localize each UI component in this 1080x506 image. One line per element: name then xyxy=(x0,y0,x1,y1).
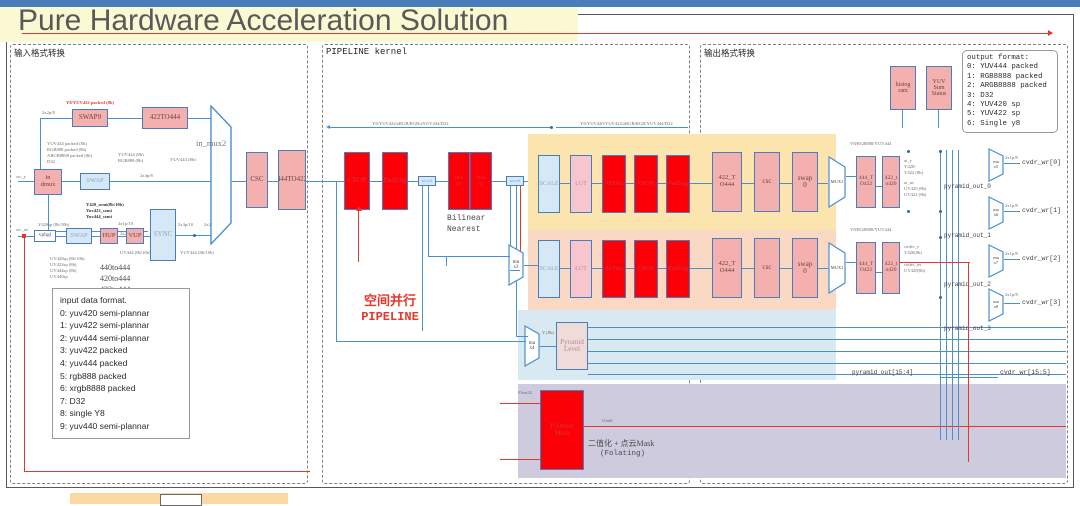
block-vphgl[interactable]: vphgl xyxy=(34,230,56,242)
block-422to444[interactable]: 422TO444 xyxy=(142,107,188,129)
rail-out-collect-2 xyxy=(946,150,947,440)
wire-red-input-feedback-v xyxy=(24,236,25,472)
block-out-444to422-b[interactable]: 444_T O422 xyxy=(856,242,876,294)
legend-input-item-3: 3: yuv422 packed xyxy=(60,344,182,357)
legend-input-header: input data format. xyxy=(60,294,182,307)
wire-swap-to-inmux2 xyxy=(110,181,214,182)
wire-padding-to-mux2 xyxy=(408,181,418,182)
block-out-csc-b[interactable]: csc xyxy=(754,238,780,298)
rail-mux3-feed xyxy=(428,256,510,257)
wire-crop-to-padding xyxy=(370,181,382,182)
block-csc-input[interactable]: CSC xyxy=(246,152,268,208)
label-pyramid-out-rest: pyramid_out[15:4] xyxy=(852,369,913,376)
arrow-red-crop-ctrl xyxy=(356,206,362,211)
mux-x7-label: mu x7 xyxy=(988,244,1004,278)
legend-output-header: output format: xyxy=(967,54,1053,63)
label-yuv444-rgb888: YUV444 (8b) RGB888 (8b) xyxy=(118,152,144,164)
block-resize-1[interactable]: resi ze xyxy=(470,152,492,210)
block-pointnet-mask[interactable]: Pointnet Mask xyxy=(540,390,584,470)
block-out-422to444-a[interactable]: 422_T O444 xyxy=(712,152,742,212)
block-out-422to420-b[interactable]: 422_t o420 xyxy=(882,242,900,294)
wire-dmux-to-swap xyxy=(62,181,80,182)
label-semi-group: Y420_semi(8b/10b) Yuv422_semi Yuv444_sem… xyxy=(86,202,124,220)
label-y-8b: Y (8b) xyxy=(542,330,554,336)
port-cvdr-wr-1: cvdr_wr[1] xyxy=(1022,207,1061,214)
block-hup[interactable]: HUP xyxy=(100,228,118,244)
legend-input-item-7: 7: D32 xyxy=(60,395,182,408)
legend-input-item-2: 2: yuv444 semi-plannar xyxy=(60,332,182,345)
block-scale-ai[interactable]: SCALE xyxy=(538,155,560,213)
rail-mux4-feed xyxy=(516,336,528,337)
label-uv444: UV444 (8b/10b) xyxy=(120,250,151,256)
mux-x4-label: mu x4 xyxy=(524,325,540,367)
label-packed-group: YUV444 packed (8b) RGB888 packed (8b) AR… xyxy=(47,141,92,165)
wire-outb-2 xyxy=(780,268,792,269)
block-crop-codec[interactable]: CROP xyxy=(634,240,658,298)
port-cvdr-wr-rest: cvdr_wr[15:5] xyxy=(1000,369,1051,376)
wire-outa-1 xyxy=(742,183,754,184)
junction-bus-mid xyxy=(550,126,553,129)
label-src-uv: src_uv xyxy=(16,227,28,233)
label-codec-uv: codec_uv UV420(8b) xyxy=(904,262,925,274)
legend-input-item-0: 0: yuv420 semi-plannar xyxy=(60,307,182,320)
junction-out-b1 xyxy=(939,236,942,239)
band-pointnet xyxy=(518,384,1066,478)
label-bus-in: Y8/YUV422/aRGB/RGB/aYUV444/D32 xyxy=(370,121,451,127)
mux-x7[interactable]: mu x7 xyxy=(988,244,1004,278)
wire-lut-affine-codec xyxy=(592,268,602,269)
label-2x1p8-c: 2x1p/8 xyxy=(1005,251,1018,257)
block-out-swap0-b[interactable]: swap 0 xyxy=(792,238,818,298)
rail-out-collect-4 xyxy=(958,150,959,440)
port-cvdr-wr-3: cvdr_wr[3] xyxy=(1022,299,1061,306)
wire-csc-to-444to422 xyxy=(268,181,278,182)
label-resize-mode: Bilinear Nearest xyxy=(447,213,485,235)
wire-histogram-down xyxy=(902,110,903,128)
wire-outa-2 xyxy=(780,183,792,184)
label-pyramid-out-0: pyramid_out_0 xyxy=(944,183,991,190)
legend-output-item-4: 4: YUV420 sp xyxy=(967,101,1053,110)
block-sync[interactable]: SYNC xyxy=(150,209,176,261)
label-pyramid-out-1: pyramid_out_1 xyxy=(944,232,991,239)
block-padding-codec[interactable]: Padding xyxy=(666,240,690,298)
label-yuv444-8b10b: YUV444 (8b/10b) xyxy=(180,250,214,256)
mux-in-mux2[interactable] xyxy=(210,105,232,245)
junction-out-c1 xyxy=(907,150,910,153)
legend-input-item-5: 5: rgb888 packed xyxy=(60,370,182,383)
mux-out-mux1-a[interactable]: MUX1 xyxy=(828,156,846,208)
wire-crop-padding-ai xyxy=(658,183,666,184)
mux-x5-label: mu x5 xyxy=(988,148,1004,182)
mux-x4[interactable]: mu x4 xyxy=(524,325,540,367)
wire-pyramid-out-2 xyxy=(588,351,1066,352)
wire-dmux-to-swap0-h xyxy=(40,118,72,119)
wire-lut-affine-ai xyxy=(592,183,602,184)
block-affine-codec[interactable]: AFFine xyxy=(602,240,626,298)
label-ai-y: ai_y Y420/ Y422 (8b) xyxy=(904,158,923,176)
mux-x3[interactable]: mu x3 xyxy=(508,244,524,286)
rail-pipeline-left-1 xyxy=(336,181,337,341)
block-lut-codec[interactable]: LUT xyxy=(570,240,592,298)
label-2x1p8-d: 2x1p/8 xyxy=(1005,292,1018,298)
block-scale-codec[interactable]: SCALE xyxy=(538,240,560,298)
block-padding-ai[interactable]: Padding xyxy=(666,155,690,213)
legend-input-item-4: 4: yuv444 packed xyxy=(60,357,182,370)
panel-output-label: 输出格式转换 xyxy=(704,47,755,59)
block-out-422to420-a[interactable]: 422_t o420 xyxy=(882,156,900,208)
port-cvdr-wr-2: cvdr_wr[2] xyxy=(1022,255,1061,262)
note-line-2: PIPELINE xyxy=(330,309,450,325)
block-out-444to422-a[interactable]: 444_T O422 xyxy=(856,156,876,208)
rail-mux3-stub xyxy=(446,256,447,266)
block-mux2[interactable]: mux2 xyxy=(418,176,436,186)
junction-out-a1 xyxy=(939,150,942,153)
block-histogram[interactable]: histog ram xyxy=(890,66,916,110)
block-swap0[interactable]: SWAP0 xyxy=(72,109,108,127)
legend-input-item-6: 6: xrgb8888 packed xyxy=(60,382,182,395)
note-spatial-parallel: 空间并行 PIPELINE xyxy=(330,293,450,325)
wire-pyramid-out-rest xyxy=(588,374,1066,375)
note-line-1: 空间并行 xyxy=(330,293,450,309)
label-2x1p10: 2x1p/10 xyxy=(118,221,133,227)
marker-red-input-feedback xyxy=(22,234,26,238)
wire-pyramid-out-0 xyxy=(588,327,1066,328)
block-padding[interactable]: Padding xyxy=(382,152,408,210)
wire-pyramid-out-3 xyxy=(588,363,1066,364)
wire-port-0 xyxy=(1004,163,1020,164)
label-out-bus-b: Y8/RGB888/YUV444 xyxy=(850,227,891,233)
block-lut-ai[interactable]: LUT xyxy=(570,155,592,213)
label-ai-uv: ai_uv UV420 (8b) UV422 (8b) xyxy=(904,180,926,198)
wire-codec-to-output xyxy=(690,268,712,269)
legend-output-format: output format: 0: YUV444 packed 1: RGB88… xyxy=(962,50,1058,133)
junction-out-b2 xyxy=(939,296,942,299)
block-444to422-input[interactable]: 444TO422 xyxy=(278,150,306,210)
panel-pipeline-label: PIPELINE kernel xyxy=(326,47,407,57)
wire-vphgl-to-swap2 xyxy=(56,236,66,237)
port-cvdr-wr-0: cvdr_wr[0] xyxy=(1022,159,1061,166)
wire-pointnet-out xyxy=(584,426,1066,427)
mux1-b-label: MUX1 xyxy=(828,242,846,294)
bus-pipeline-in-arrow xyxy=(326,125,330,129)
block-swap[interactable]: SWAP xyxy=(80,173,110,190)
mux-x5[interactable]: mu x5 xyxy=(988,148,1004,182)
mux-x6[interactable]: mu x6 xyxy=(988,196,1004,230)
label-src-y: src_y xyxy=(16,174,26,180)
wire-red-input-feedback-h xyxy=(24,471,310,472)
mux-x8-label: mu x8 xyxy=(988,288,1004,322)
wire-mux2-to-resize xyxy=(436,181,448,182)
wire-scale-lut-codec xyxy=(560,268,570,269)
wire-hup-to-vup xyxy=(118,236,126,237)
wire-affine-crop-ai xyxy=(626,183,634,184)
wire-pyramid-out-1 xyxy=(588,339,1066,340)
legend-output-item-2: 2: ARGB8888 packed xyxy=(967,82,1053,91)
wire-mux2-feedback-b xyxy=(428,186,429,256)
legend-input-item-9: 9: yuv440 semi-plannar xyxy=(60,420,182,433)
wire-yuvsum-down xyxy=(938,110,939,128)
wire-port-1 xyxy=(1004,211,1020,212)
label-yuv444-8b: YUV444 (8b) xyxy=(170,157,196,163)
wire-red-out-feedback-h xyxy=(900,262,970,263)
wire-ai-to-output xyxy=(690,183,712,184)
legend-input-data-format: input data format. 0: yuv420 semi-planna… xyxy=(52,288,190,439)
wire-src-uv-in xyxy=(18,236,34,237)
label-bus-out: Y8/YUV420/YUV422/aRGB/RGB/YUV444/D32 xyxy=(578,121,675,127)
label-float32: Float32 xyxy=(518,390,532,396)
label-2x4p8: 2x4p/8 xyxy=(140,173,153,179)
wire-affine-crop-codec xyxy=(626,268,634,269)
legend-output-item-5: 5: YUV422 sp xyxy=(967,110,1053,119)
top-red-arrowhead xyxy=(1048,30,1053,36)
label-pointnet-note-2: (Folating) xyxy=(600,450,645,458)
label-2x2p8: 2x2p/8 xyxy=(42,110,55,116)
label-in-mux2: in_mux2 xyxy=(196,138,226,148)
wire-mux3-to-scale xyxy=(524,265,538,266)
block-out-csc-a[interactable]: csc xyxy=(754,152,780,212)
legend-output-item-6: 6: Single y8 xyxy=(967,120,1053,129)
wire-src-y-in xyxy=(18,181,34,182)
bus-pipeline-in xyxy=(330,127,552,128)
wire-scale-lut-ai xyxy=(560,183,570,184)
label-2x3p10: 2x3p/10 xyxy=(178,222,193,228)
block-affine-ai[interactable]: AFFine xyxy=(602,155,626,213)
legend-output-item-3: 3: D32 xyxy=(967,92,1053,101)
legend-output-item-0: 0: YUV444 packed xyxy=(967,63,1053,72)
junction-out-c2 xyxy=(907,210,910,213)
wire-inmux2-to-csc xyxy=(232,181,246,182)
junction-sync-out xyxy=(193,234,196,237)
label-uv-group: UV420sp (8b/10b) UV422sp (8b) UV444sp (8… xyxy=(50,256,85,280)
mux1-a-label: MUX1 xyxy=(828,156,846,208)
wire-outa-3 xyxy=(818,183,828,184)
mux-x3-label: mu x3 xyxy=(508,244,524,286)
mux-x8[interactable]: mu x8 xyxy=(988,288,1004,322)
rail-pipeline-left-1h xyxy=(336,341,526,342)
wire-mux4-to-pyramid xyxy=(540,346,556,347)
mux-out-mux1-b[interactable]: MUX1 xyxy=(828,242,846,294)
block-crop-ai[interactable]: CROP xyxy=(634,155,658,213)
label-pointnet-note-1: 二值化 + 点云Mask xyxy=(588,438,654,449)
rail-out-collect-1 xyxy=(940,150,941,440)
block-crop[interactable]: CROP xyxy=(344,152,370,210)
block-vup[interactable]: VUP xyxy=(126,228,144,244)
legend-output-item-1: 1: RGB8888 packed xyxy=(967,73,1053,82)
wire-port-3 xyxy=(1004,303,1020,304)
block-mux0[interactable]: mux0 xyxy=(506,176,524,186)
label-2x1p8-a: 2x1p/8 xyxy=(1005,155,1018,161)
block-out-swap0-a[interactable]: swap 0 xyxy=(792,152,818,212)
diagram-canvas: Pure Hardware Acceleration Solution 输入格式… xyxy=(0,0,1080,504)
block-out-422to444-b[interactable]: 422_T O444 xyxy=(712,238,742,298)
wire-red-into-pointnet-bot xyxy=(500,459,540,460)
wire-red-into-pointnet-top xyxy=(500,403,540,404)
footer-box xyxy=(160,494,202,506)
wire-swap2-to-hup xyxy=(92,236,100,237)
wire-outb-4 xyxy=(846,262,856,263)
label-codec-y: codec_y Y420(8b) xyxy=(904,244,922,256)
panel-input-label: 输入格式转换 xyxy=(14,47,65,59)
mux-x6-label: mu x6 xyxy=(988,196,1004,230)
label-2x1p8-b: 2x1p/8 xyxy=(1005,203,1018,209)
wire-crop-padding-codec xyxy=(658,268,666,269)
legend-input-item-1: 1: yuv422 semi-plannar xyxy=(60,319,182,332)
wire-outb-3 xyxy=(818,268,828,269)
block-resize-0[interactable]: resi ze xyxy=(448,152,470,210)
label-y8-yuv422-packed: Y8/YUV422 packed (8b) xyxy=(66,100,114,106)
legend-input-item-8: 8: single Y8 xyxy=(60,407,182,420)
rail-mux0-feed xyxy=(510,270,520,271)
wire-red-crop-ctrl xyxy=(358,210,359,262)
label-uint8: Uint8 xyxy=(602,418,612,424)
wire-resize-to-mux0 xyxy=(492,181,506,182)
rail-out-collect-3 xyxy=(952,150,953,440)
top-red-bus xyxy=(22,33,1052,34)
wire-port-2 xyxy=(1004,259,1020,260)
block-yuv-sum-status[interactable]: YUV Sum Status xyxy=(926,66,952,110)
block-swap2[interactable]: SWAP xyxy=(66,228,92,244)
wire-red-out-feedback-v xyxy=(968,262,969,462)
label-out-bus-a: Y8/RGB888/YUV444 xyxy=(850,141,891,147)
wire-outb-1 xyxy=(742,268,754,269)
block-in-dmux[interactable]: in dmux xyxy=(34,169,62,195)
wire-outa-4 xyxy=(846,176,856,177)
bus-pipeline-out xyxy=(556,127,688,128)
junction-out-a2 xyxy=(939,210,942,213)
block-pyramid-level[interactable]: Pyramid Level xyxy=(556,322,588,370)
wire-swap0-to-422to444 xyxy=(108,118,142,119)
label-y420sp: Y420sp (8b/10b) xyxy=(38,222,69,228)
